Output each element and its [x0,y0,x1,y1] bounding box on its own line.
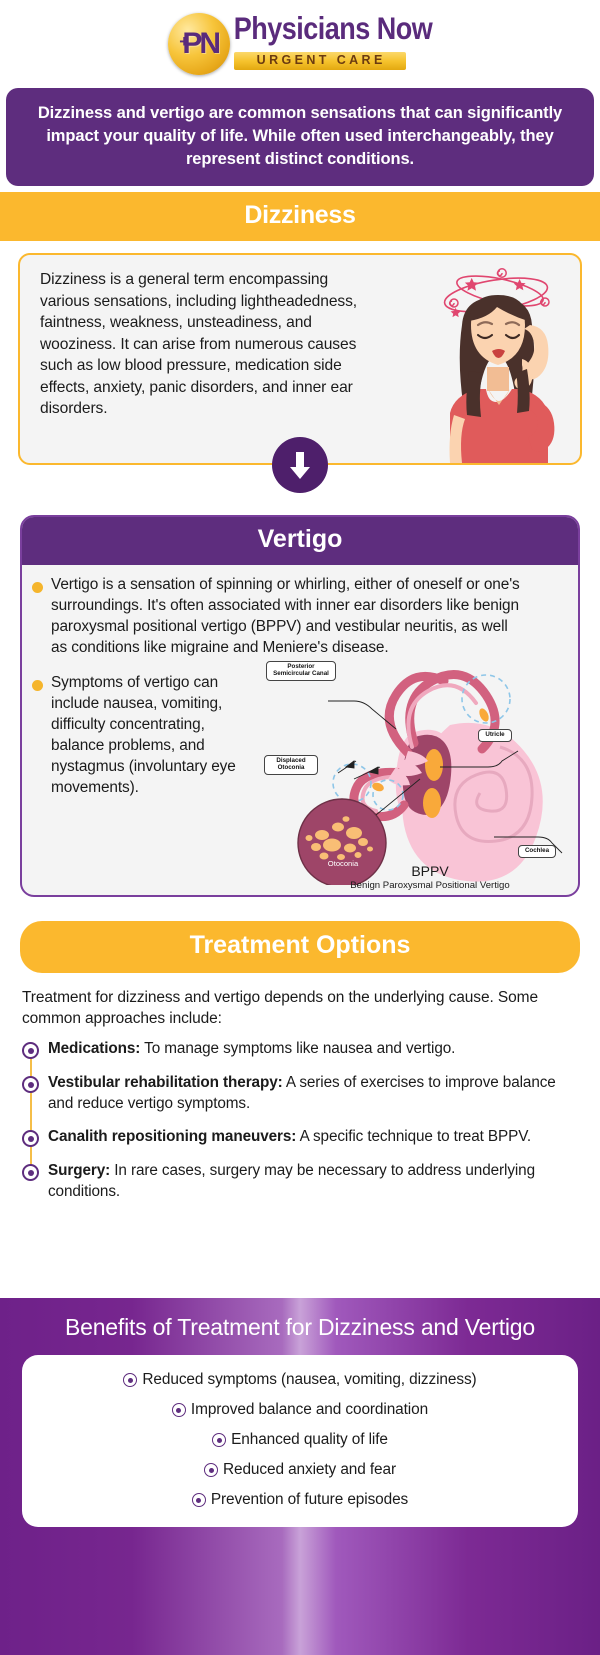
treatment-item-text: Canalith repositioning maneuvers: A spec… [48,1127,531,1148]
treatment-item: Medications: To manage symptoms like nau… [22,1039,578,1060]
bullet-dot-icon [32,582,43,593]
bullet-radio-icon [172,1403,186,1417]
bppv-inner-ear-diagram: Posterior Semicircular Canal Displaced O… [262,655,572,885]
logo-badge-icon: + PN [168,13,230,75]
benefit-item-text: Enhanced quality of life [231,1431,388,1449]
benefits-section: Benefits of Treatment for Dizziness and … [0,1298,600,1655]
treatment-term: Vestibular rehabilitation therapy: [48,1074,283,1091]
bppv-caption-subtitle: Benign Paroxysmal Positional Vertigo [300,880,560,891]
benefit-item: Reduced symptoms (nausea, vomiting, dizz… [32,1371,568,1389]
logo-group: + PN Physicians Now URGENT CARE [168,13,433,75]
vertigo-bullet-2-text: Symptoms of vertigo can include nausea, … [51,673,243,799]
treatment-term: Surgery: [48,1162,110,1179]
vertigo-section-heading: Vertigo [21,516,579,565]
treatment-item: Surgery: In rare cases, surgery may be n… [22,1161,578,1202]
treatment-term: Canalith repositioning maneuvers: [48,1128,296,1145]
bppv-caption-title: BPPV [300,863,560,879]
vertigo-card: Vertigo Vertigo is a sensation of spinni… [20,515,580,897]
benefits-card: Reduced symptoms (nausea, vomiting, dizz… [22,1355,578,1527]
label-posterior-semicircular-canal: Posterior Semicircular Canal [266,661,336,681]
brand-logo: + PN Physicians Now URGENT CARE [0,0,600,88]
treatment-intro-text: Treatment for dizziness and vertigo depe… [22,987,578,1029]
treatment-item-text: Vestibular rehabilitation therapy: A ser… [48,1073,578,1114]
treatment-item-text: Surgery: In rare cases, surgery may be n… [48,1161,578,1202]
intro-banner: Dizziness and vertigo are common sensati… [6,88,594,186]
benefit-item: Enhanced quality of life [32,1431,568,1449]
benefit-item: Improved balance and coordination [32,1401,568,1419]
benefit-item-text: Prevention of future episodes [211,1491,408,1509]
bullet-radio-icon [22,1042,39,1059]
medical-cross-icon: + [177,34,192,49]
bullet-radio-icon [212,1433,226,1447]
dizzy-woman-illustration [375,255,580,463]
bullet-radio-icon [22,1076,39,1093]
treatment-section-heading: Treatment Options [20,921,580,973]
bullet-dot-icon [32,680,43,691]
bullet-radio-icon [204,1463,218,1477]
benefit-item: Reduced anxiety and fear [32,1461,568,1479]
bullet-radio-icon [192,1493,206,1507]
treatment-desc: To manage symptoms like nausea and verti… [140,1040,455,1057]
bullet-radio-icon [22,1130,39,1147]
logo-wordmark: Physicians Now URGENT CARE [234,18,433,70]
benefit-item-text: Reduced anxiety and fear [223,1461,396,1479]
bppv-caption: BPPV Benign Paroxysmal Positional Vertig… [300,863,560,891]
treatment-desc: In rare cases, surgery may be necessary … [48,1162,535,1200]
treatment-term: Medications: [48,1040,140,1057]
down-arrow-icon [272,437,328,493]
dizziness-body-text: Dizziness is a general term encompassing… [20,255,375,463]
benefit-item-text: Improved balance and coordination [191,1401,428,1419]
vertigo-bullet-1: Vertigo is a sensation of spinning or wh… [32,575,564,659]
logo-company-name: Physicians Now [234,13,433,45]
benefit-item-text: Reduced symptoms (nausea, vomiting, dizz… [142,1371,476,1389]
benefit-item: Prevention of future episodes [32,1491,568,1509]
bullet-radio-icon [22,1164,39,1181]
treatment-list: Medications: To manage symptoms like nau… [22,1039,578,1202]
vertigo-bullet-1-text: Vertigo is a sensation of spinning or wh… [51,575,521,659]
treatment-item-text: Medications: To manage symptoms like nau… [48,1039,455,1060]
logo-tagline: URGENT CARE [234,52,406,70]
vertigo-body: Vertigo is a sensation of spinning or wh… [22,565,578,895]
section-divider-arrow [0,437,600,493]
label-utricle: Utricle [478,729,512,742]
label-cochlea: Cochlea [518,845,556,858]
dizziness-card: Dizziness is a general term encompassing… [18,253,582,465]
benefits-title: Benefits of Treatment for Dizziness and … [0,1314,600,1341]
treatment-item: Canalith repositioning maneuvers: A spec… [22,1127,578,1148]
bullet-radio-icon [123,1373,137,1387]
treatment-item: Vestibular rehabilitation therapy: A ser… [22,1073,578,1114]
dizziness-section-heading: Dizziness [0,192,600,241]
label-displaced-otoconia: Displaced Otoconia [264,755,318,775]
treatment-desc: A specific technique to treat BPPV. [296,1128,531,1145]
